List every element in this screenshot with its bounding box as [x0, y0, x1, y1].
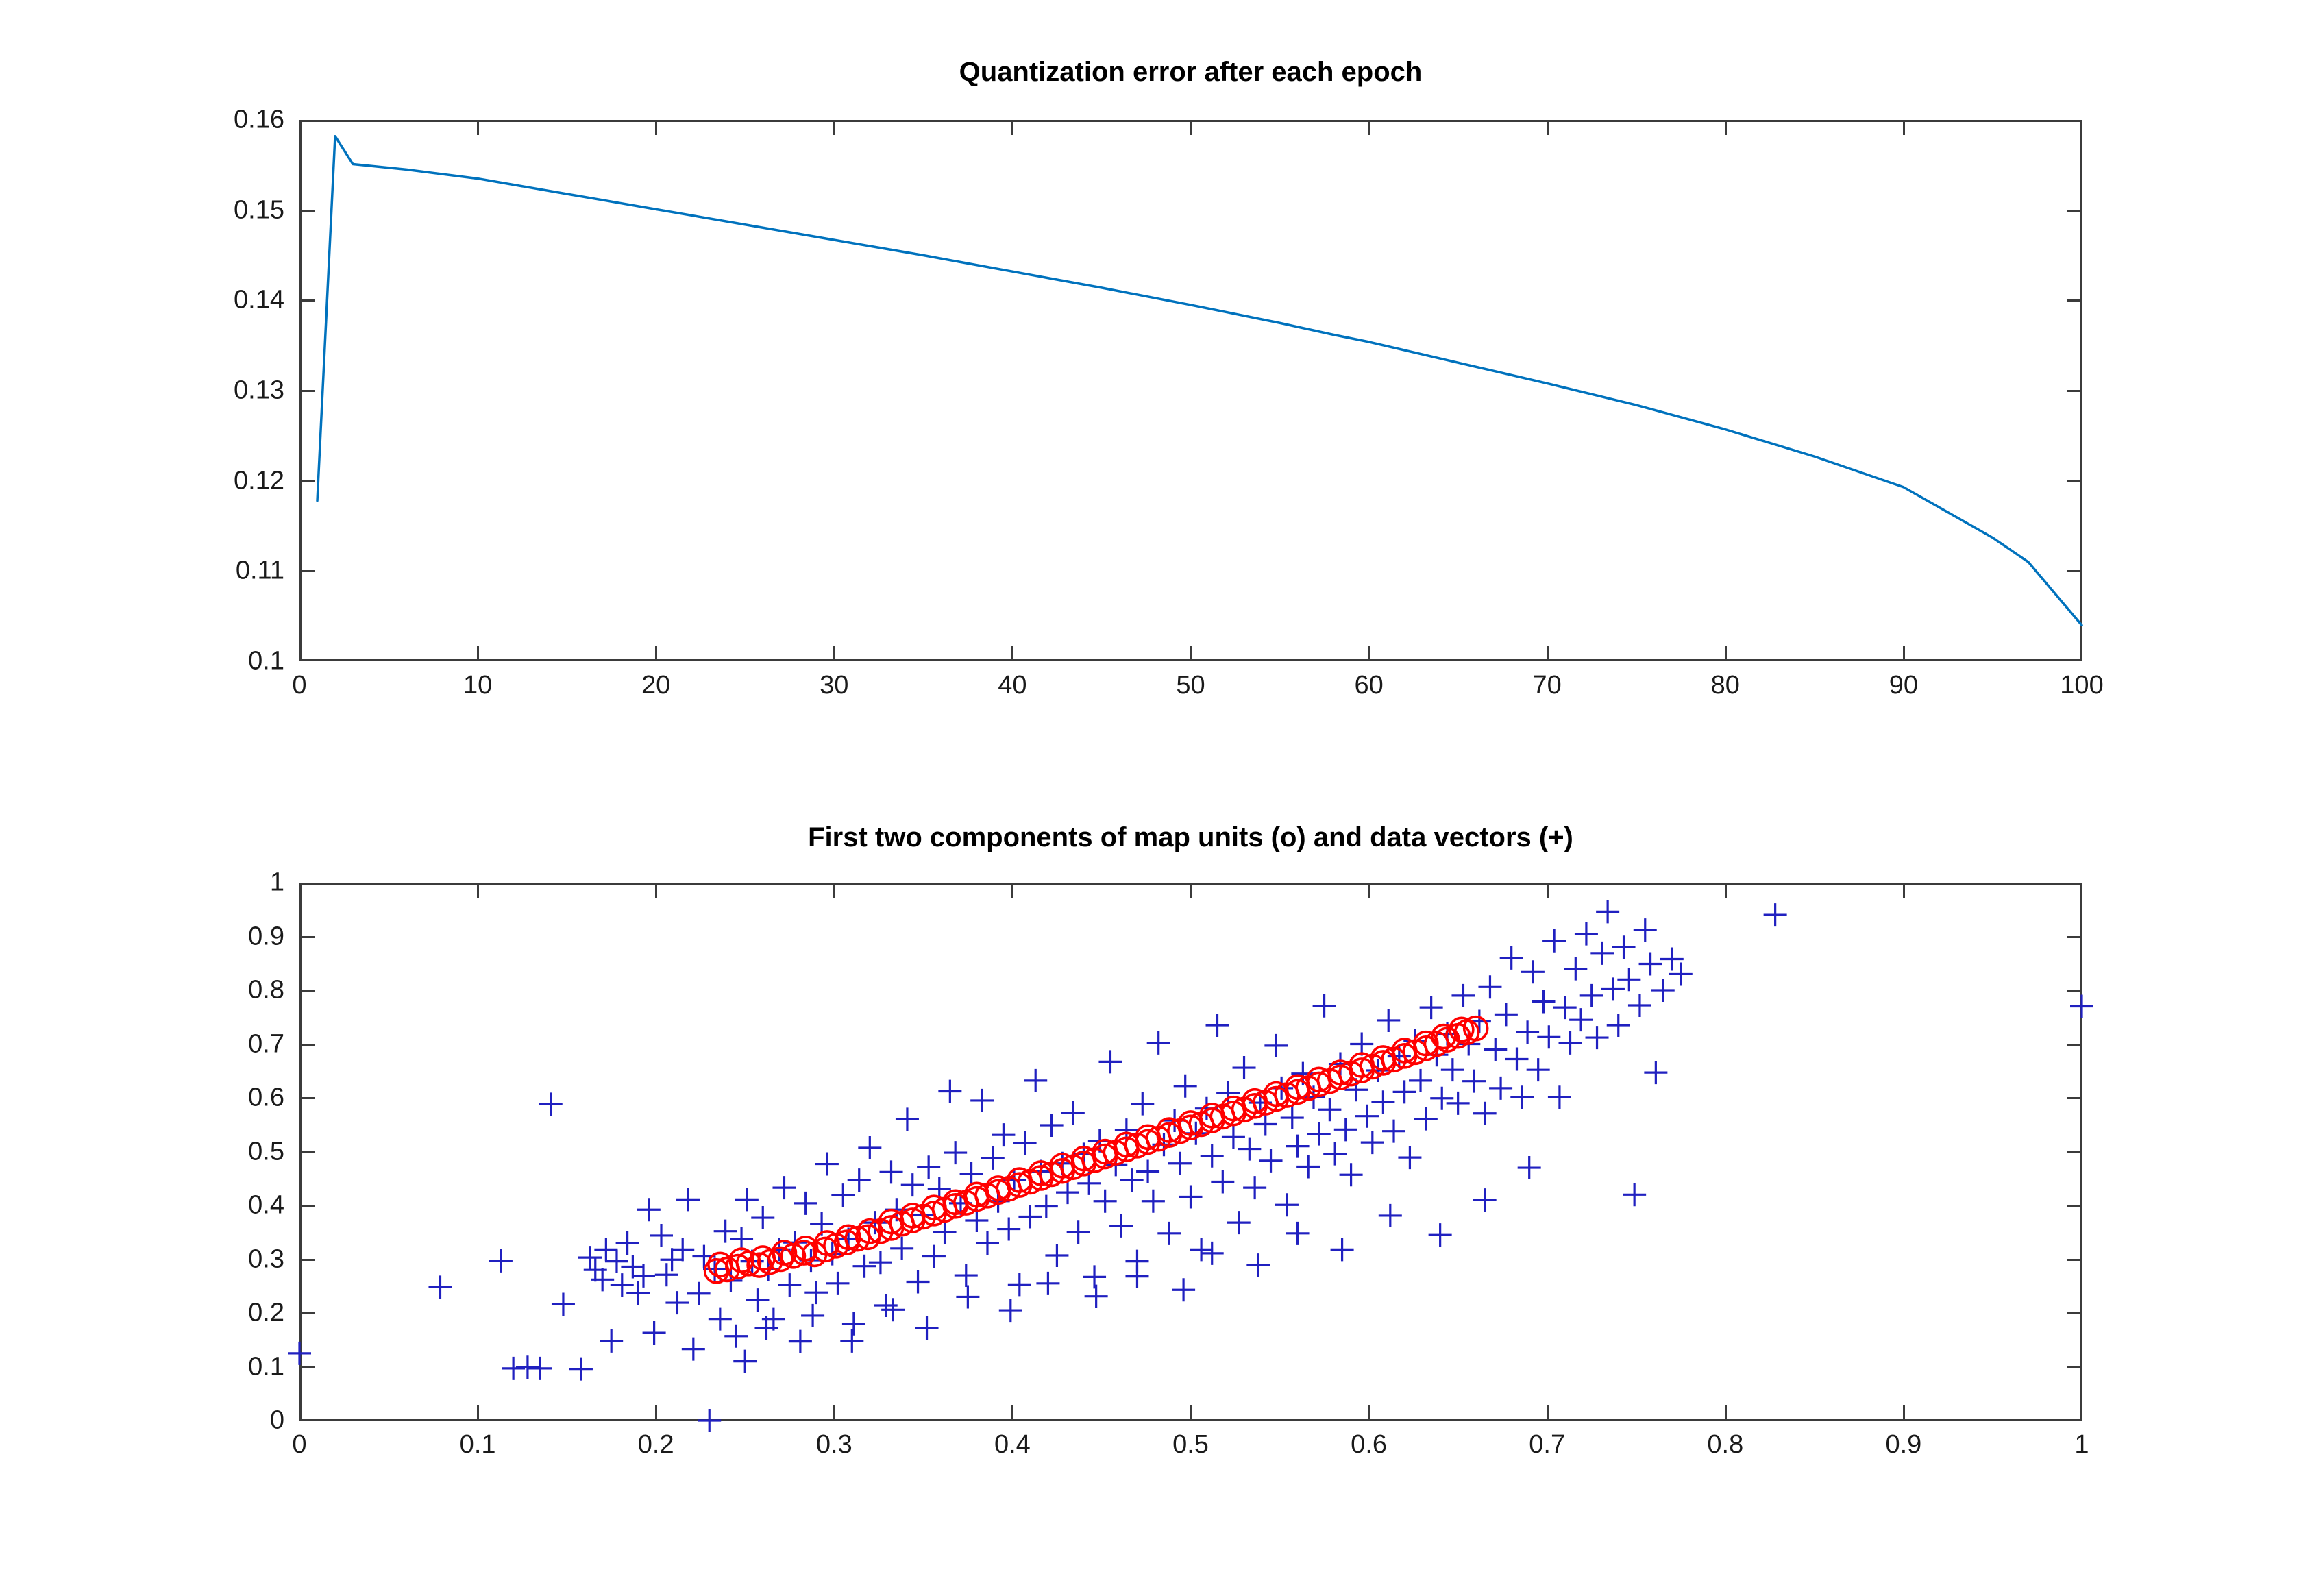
y-axis-tick-mark	[2067, 570, 2082, 572]
plus-marker-icon	[831, 1183, 855, 1207]
x-axis-tick-mark	[1725, 883, 1727, 898]
plus-marker-icon	[569, 1358, 593, 1381]
y-axis-tick-mark	[299, 480, 315, 482]
y-axis-tick-mark	[299, 936, 315, 938]
plus-marker-icon	[605, 1250, 628, 1273]
plus-marker-icon	[698, 1409, 721, 1432]
x-axis-tick-label: 90	[1889, 661, 1918, 700]
plus-marker-icon	[1157, 1222, 1181, 1245]
y-axis-tick-mark	[2067, 480, 2082, 482]
plus-marker-icon	[665, 1291, 689, 1314]
plus-marker-icon	[896, 1107, 919, 1131]
plus-marker-icon	[1246, 1253, 1270, 1277]
plus-marker-icon	[1586, 1026, 1609, 1049]
x-axis-tick-mark	[1190, 120, 1192, 135]
x-axis-tick-mark	[1547, 646, 1549, 661]
plus-marker-icon	[789, 1330, 812, 1353]
plus-marker-icon	[1018, 1205, 1042, 1228]
x-axis-tick-label: 0.6	[1351, 1421, 1387, 1460]
circle-marker-icon	[709, 1253, 732, 1276]
y-axis-tick-mark	[2067, 1044, 2082, 1046]
x-axis-tick-mark	[1903, 646, 1905, 661]
plus-marker-icon	[1340, 1163, 1363, 1186]
plus-marker-icon	[1361, 1131, 1384, 1154]
plus-marker-icon	[1318, 1098, 1341, 1121]
plus-marker-icon	[960, 1162, 983, 1186]
plus-marker-icon	[848, 1168, 871, 1192]
plus-marker-icon	[1414, 1107, 1438, 1131]
quantization-error-line	[317, 136, 2082, 626]
y-axis-tick-mark	[299, 1312, 315, 1314]
plus-marker-icon	[1125, 1265, 1148, 1288]
quantization-error-chart: Quantization error after each epoch 0.10…	[299, 120, 2082, 661]
plus-marker-icon	[616, 1231, 639, 1255]
plus-marker-icon	[1083, 1265, 1106, 1288]
plus-marker-icon	[1275, 1193, 1299, 1216]
plus-marker-icon	[1281, 1106, 1304, 1129]
x-axis-tick-label: 0.2	[638, 1421, 674, 1460]
y-axis-tick-mark	[299, 570, 315, 572]
plus-marker-icon	[428, 1275, 452, 1299]
plus-marker-icon	[1542, 929, 1566, 953]
matlab-figure-canvas: Quantization error after each epoch 0.10…	[0, 0, 2299, 1596]
x-axis-tick-mark	[1190, 646, 1192, 661]
x-axis-tick-label: 0.9	[1885, 1421, 1921, 1460]
y-axis-tick-mark	[2067, 299, 2082, 302]
plus-marker-icon	[676, 1188, 700, 1211]
plus-marker-icon	[1548, 1085, 1571, 1109]
plus-marker-icon	[853, 1255, 876, 1278]
y-axis-tick-mark	[2067, 1366, 2082, 1368]
plus-marker-icon	[735, 1188, 759, 1211]
plus-marker-icon	[992, 1123, 1015, 1146]
plus-marker-icon	[1238, 1138, 1261, 1161]
x-axis-tick-mark	[1368, 120, 1370, 135]
plus-marker-icon	[661, 1248, 684, 1271]
y-axis-tick-label: 0.15	[234, 195, 299, 225]
plus-marker-icon	[999, 1299, 1022, 1322]
plus-marker-icon	[1505, 1047, 1528, 1070]
y-axis-tick-mark	[299, 299, 315, 302]
y-axis-tick-mark	[2067, 1097, 2082, 1099]
plus-marker-icon	[1382, 1120, 1405, 1143]
x-axis-tick-label: 0.7	[1529, 1421, 1565, 1460]
x-axis-tick-mark	[1903, 1405, 1905, 1421]
plus-marker-icon	[1580, 984, 1603, 1007]
plus-marker-icon	[858, 1136, 881, 1159]
plus-marker-icon	[1429, 1223, 1452, 1247]
y-axis-tick-label: 0.16	[234, 106, 299, 135]
map-chart-title: First two components of map units (o) an…	[299, 822, 2082, 853]
y-axis-tick-label: 0.13	[234, 376, 299, 406]
plus-marker-icon	[1227, 1211, 1251, 1234]
plus-marker-icon	[1201, 1144, 1224, 1168]
x-axis-tick-label: 0.1	[460, 1421, 496, 1460]
plus-marker-icon	[1061, 1101, 1085, 1125]
x-axis-tick-label: 50	[1176, 661, 1205, 700]
x-axis-tick-mark	[833, 646, 835, 661]
plus-marker-icon	[1334, 1118, 1357, 1141]
y-axis-tick-label: 0.12	[234, 466, 299, 495]
plus-marker-icon	[1377, 1009, 1400, 1032]
y-axis-tick-mark	[299, 210, 315, 212]
plus-marker-icon	[1478, 975, 1501, 998]
plus-marker-icon	[1243, 1176, 1266, 1199]
map-components-chart: First two components of map units (o) an…	[299, 883, 2082, 1421]
plus-marker-icon	[880, 1160, 903, 1183]
plus-marker-icon	[1521, 960, 1545, 983]
plus-marker-icon	[1484, 1038, 1507, 1061]
y-axis-tick-label: 0.6	[248, 1083, 299, 1113]
plus-marker-icon	[746, 1288, 769, 1312]
plus-marker-icon	[1607, 1014, 1630, 1037]
x-axis-tick-label: 70	[1533, 661, 1562, 700]
plus-marker-icon	[907, 1270, 930, 1293]
map-unit-markers	[705, 1017, 1488, 1283]
quantization-error-line-layer	[299, 120, 2082, 661]
y-axis-tick-label: 0.2	[248, 1299, 299, 1328]
x-axis-tick-label: 0.8	[1707, 1421, 1743, 1460]
plus-marker-icon	[869, 1251, 892, 1274]
plus-marker-icon	[801, 1304, 824, 1327]
x-axis-tick-mark	[655, 646, 657, 661]
x-axis-tick-mark	[1011, 1405, 1013, 1421]
y-axis-tick-mark	[299, 1151, 315, 1153]
plus-marker-icon	[1045, 1244, 1068, 1267]
plus-marker-icon	[1617, 968, 1640, 991]
y-axis-tick-mark	[2067, 936, 2082, 938]
plus-marker-icon	[922, 1245, 946, 1268]
plus-marker-icon	[1596, 900, 1619, 923]
x-axis-tick-mark	[655, 120, 657, 135]
x-axis-tick-label: 0.5	[1172, 1421, 1209, 1460]
y-axis-tick-mark	[299, 990, 315, 992]
x-axis-tick-mark	[1903, 120, 1905, 135]
x-axis-tick-label: 0	[292, 661, 306, 700]
plus-marker-icon	[709, 1308, 732, 1331]
x-axis-tick-mark	[655, 883, 657, 898]
x-axis-tick-mark	[1903, 883, 1905, 898]
plus-marker-icon	[1067, 1220, 1090, 1244]
plus-marker-icon	[539, 1092, 563, 1116]
plus-marker-icon	[1379, 1204, 1402, 1227]
circle-marker-icon	[751, 1247, 774, 1270]
plus-marker-icon	[1035, 1195, 1058, 1218]
plus-marker-icon	[915, 1316, 939, 1340]
y-axis-tick-label: 0.8	[248, 976, 299, 1005]
plus-marker-icon	[1323, 1142, 1347, 1166]
y-axis-tick-mark	[299, 1259, 315, 1261]
y-axis-tick-mark	[2067, 1205, 2082, 1207]
x-axis-tick-label: 100	[2060, 661, 2103, 700]
plus-marker-icon	[1264, 1034, 1288, 1057]
plus-marker-icon	[1371, 1090, 1394, 1114]
plus-marker-icon	[944, 1141, 967, 1164]
map-scatter-layer	[299, 883, 2082, 1421]
x-axis-tick-label: 10	[463, 661, 492, 700]
plus-marker-icon	[1040, 1114, 1064, 1137]
plus-marker-icon	[1168, 1152, 1192, 1175]
y-axis-tick-mark	[299, 390, 315, 392]
plus-marker-icon	[772, 1176, 796, 1199]
x-axis-tick-label: 40	[998, 661, 1026, 700]
plus-marker-icon	[1473, 1102, 1497, 1125]
plus-marker-icon	[840, 1329, 863, 1353]
plus-marker-icon	[1564, 957, 1587, 981]
x-axis-tick-mark	[1011, 883, 1013, 898]
plus-marker-icon	[1259, 1149, 1283, 1173]
plus-marker-icon	[917, 1155, 940, 1179]
plus-marker-icon	[671, 1238, 694, 1261]
plus-marker-icon	[938, 1080, 961, 1103]
x-axis-tick-mark	[1547, 1405, 1549, 1421]
y-axis-tick-label: 0.5	[248, 1137, 299, 1166]
x-axis-tick-label: 80	[1711, 661, 1740, 700]
plus-marker-icon	[1313, 994, 1336, 1018]
plus-marker-icon	[552, 1292, 575, 1316]
y-axis-tick-mark	[299, 1044, 315, 1046]
plus-marker-icon	[1206, 1014, 1229, 1037]
plus-marker-icon	[976, 1231, 999, 1255]
y-axis-tick-label: 0.1	[248, 1352, 299, 1382]
plus-marker-icon	[1098, 1050, 1122, 1073]
plus-marker-icon	[1420, 996, 1443, 1019]
plus-marker-icon	[1623, 1183, 1646, 1206]
plus-marker-icon	[842, 1312, 865, 1336]
plus-marker-icon	[1518, 1156, 1541, 1179]
plus-marker-icon	[600, 1329, 623, 1353]
plus-marker-icon	[1094, 1190, 1117, 1213]
plus-marker-icon	[1537, 1025, 1560, 1048]
plus-marker-icon	[1553, 996, 1577, 1019]
data-vector-markers	[288, 900, 2093, 1432]
plus-marker-icon	[955, 1264, 978, 1287]
plus-marker-icon	[1634, 918, 1657, 942]
plus-marker-icon	[1441, 1058, 1464, 1081]
plus-marker-icon	[1644, 1061, 1667, 1084]
plus-marker-icon	[1430, 1087, 1453, 1110]
plus-marker-icon	[1307, 1122, 1331, 1146]
y-axis-tick-mark	[2067, 1259, 2082, 1261]
plus-marker-icon	[1612, 935, 1636, 959]
x-axis-tick-mark	[1011, 120, 1013, 135]
y-axis-tick-label: 0.9	[248, 922, 299, 951]
x-axis-tick-label: 1	[2074, 1421, 2089, 1460]
plus-marker-icon	[1296, 1155, 1320, 1178]
plus-marker-icon	[1590, 942, 1614, 965]
x-axis-tick-mark	[1725, 120, 1727, 135]
plus-marker-icon	[682, 1338, 705, 1361]
plus-marker-icon	[778, 1273, 801, 1297]
plus-marker-icon	[2070, 995, 2093, 1018]
x-axis-tick-mark	[477, 646, 479, 661]
plus-marker-icon	[1651, 979, 1675, 1002]
plus-marker-icon	[1489, 1077, 1512, 1100]
plus-marker-icon	[650, 1224, 673, 1247]
plus-marker-icon	[687, 1282, 711, 1305]
y-axis-tick-mark	[2067, 990, 2082, 992]
x-axis-tick-mark	[1547, 883, 1549, 898]
x-axis-tick-label: 0.4	[994, 1421, 1031, 1460]
y-axis-tick-label: 0.11	[236, 556, 299, 586]
plus-marker-icon	[643, 1321, 666, 1345]
plus-marker-icon	[1510, 1085, 1534, 1109]
y-axis-tick-label: 0.14	[234, 286, 299, 315]
x-axis-tick-label: 20	[641, 661, 670, 700]
y-axis-tick-mark	[299, 1366, 315, 1368]
plus-marker-icon	[1393, 1080, 1416, 1103]
x-axis-tick-mark	[477, 120, 479, 135]
x-axis-tick-mark	[833, 120, 835, 135]
plus-marker-icon	[637, 1198, 661, 1221]
plus-marker-icon	[1179, 1185, 1203, 1208]
plus-marker-icon	[1355, 1105, 1379, 1128]
plus-marker-icon	[1500, 946, 1523, 970]
plus-marker-icon	[1024, 1069, 1047, 1092]
plus-marker-icon	[1131, 1092, 1154, 1116]
x-axis-tick-mark	[477, 883, 479, 898]
plus-marker-icon	[489, 1249, 513, 1273]
y-axis-tick-label: 1	[270, 868, 299, 898]
plus-marker-icon	[956, 1285, 979, 1308]
plus-marker-icon	[1639, 953, 1662, 976]
plus-marker-icon	[1628, 994, 1651, 1017]
plus-marker-icon	[1211, 1170, 1234, 1193]
x-axis-tick-label: 60	[1354, 661, 1383, 700]
y-axis-tick-label: 0.7	[248, 1029, 299, 1059]
x-axis-tick-mark	[1368, 646, 1370, 661]
plus-marker-icon	[1008, 1273, 1031, 1296]
plus-marker-icon	[1174, 1075, 1197, 1098]
plus-marker-icon	[1447, 1092, 1470, 1115]
plus-marker-icon	[794, 1192, 817, 1215]
plus-marker-icon	[1286, 1222, 1310, 1245]
x-axis-tick-mark	[833, 1405, 835, 1421]
plus-marker-icon	[655, 1263, 678, 1286]
x-axis-tick-mark	[1190, 1405, 1192, 1421]
plus-marker-icon	[1516, 1020, 1539, 1044]
x-axis-tick-mark	[1725, 646, 1727, 661]
x-axis-tick-mark	[1190, 883, 1192, 898]
x-axis-tick-mark	[1368, 1405, 1370, 1421]
plus-marker-icon	[1036, 1272, 1059, 1295]
plus-marker-icon	[981, 1146, 1005, 1170]
plus-marker-icon	[1451, 984, 1475, 1007]
x-axis-tick-mark	[1011, 646, 1013, 661]
plus-marker-icon	[1398, 1146, 1421, 1169]
y-axis-tick-mark	[2067, 390, 2082, 392]
plus-marker-icon	[733, 1350, 757, 1373]
plus-marker-icon	[826, 1272, 850, 1295]
x-axis-tick-mark	[1368, 883, 1370, 898]
plus-marker-icon	[901, 1173, 924, 1196]
plus-marker-icon	[1085, 1285, 1108, 1308]
y-axis-tick-mark	[299, 1097, 315, 1099]
plus-marker-icon	[528, 1357, 552, 1380]
plus-marker-icon	[1495, 1003, 1518, 1026]
plus-marker-icon	[1331, 1238, 1354, 1261]
y-axis-tick-mark	[2067, 1312, 2082, 1314]
plus-marker-icon	[1172, 1278, 1195, 1301]
x-axis-tick-label: 30	[820, 661, 848, 700]
plus-marker-icon	[970, 1089, 994, 1112]
plus-marker-icon	[1142, 1190, 1165, 1213]
plus-marker-icon	[815, 1153, 839, 1176]
plus-marker-icon	[751, 1206, 774, 1229]
page-title: Quantization error after each epoch	[299, 57, 2082, 88]
y-axis-tick-label: 0.4	[248, 1191, 299, 1220]
plus-marker-icon	[965, 1209, 988, 1232]
plus-marker-icon	[1147, 1031, 1170, 1055]
plus-marker-icon	[1286, 1135, 1310, 1158]
plus-marker-icon	[1409, 1069, 1432, 1092]
plus-marker-icon	[1190, 1238, 1213, 1261]
x-axis-tick-label: 0.3	[816, 1421, 852, 1460]
plus-marker-icon	[1473, 1188, 1497, 1212]
x-axis-tick-label: 0	[292, 1421, 306, 1460]
plus-marker-icon	[1764, 903, 1787, 926]
plus-marker-icon	[1462, 1070, 1486, 1093]
x-axis-tick-mark	[1547, 120, 1549, 135]
plus-marker-icon	[997, 1218, 1020, 1241]
plus-marker-icon	[1575, 922, 1598, 946]
plus-marker-icon	[1201, 1242, 1224, 1265]
plus-marker-icon	[1013, 1131, 1037, 1155]
y-axis-tick-mark	[299, 1205, 315, 1207]
plus-marker-icon	[1233, 1056, 1256, 1079]
plus-marker-icon	[1601, 977, 1625, 1000]
plus-marker-icon	[1532, 990, 1555, 1013]
plus-marker-icon	[1527, 1058, 1550, 1081]
x-axis-tick-mark	[477, 1405, 479, 1421]
y-axis-tick-mark	[2067, 210, 2082, 212]
x-axis-tick-mark	[833, 883, 835, 898]
plus-marker-icon	[1559, 1031, 1582, 1055]
x-axis-tick-mark	[1725, 1405, 1727, 1421]
y-axis-tick-mark	[2067, 1151, 2082, 1153]
plus-marker-icon	[1569, 1008, 1593, 1031]
plus-marker-icon	[724, 1325, 748, 1348]
plus-marker-icon	[804, 1281, 828, 1304]
y-axis-tick-label: 0.3	[248, 1244, 299, 1274]
x-axis-tick-mark	[655, 1405, 657, 1421]
plus-marker-icon	[1109, 1214, 1133, 1238]
